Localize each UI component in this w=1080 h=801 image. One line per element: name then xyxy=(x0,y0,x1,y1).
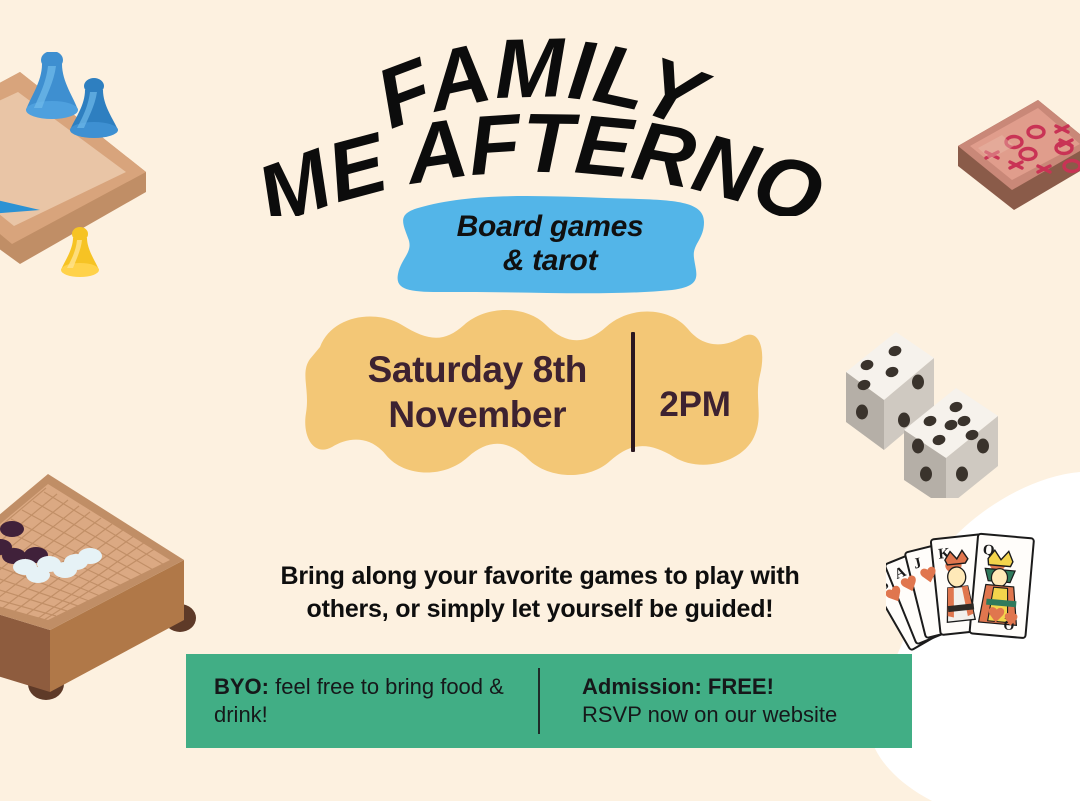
body-copy-line-2: others, or simply let yourself be guided… xyxy=(0,593,1080,626)
title-line-2: GAME AFTERNOON xyxy=(0,16,835,216)
footer-byo-label: BYO: xyxy=(214,674,269,699)
event-time: 2PM xyxy=(635,359,730,425)
date-line-2: November xyxy=(333,392,621,437)
poster-title: FAMILY GAME AFTERNOON xyxy=(0,16,1080,216)
content-layer: FAMILY GAME AFTERNOON Board games & taro… xyxy=(0,0,1080,801)
footer-admission-label: Admission: FREE! xyxy=(582,673,912,701)
poster-canvas: 8 A J K Q xyxy=(0,0,1080,801)
subtitle-badge: Board games & tarot xyxy=(392,192,708,296)
footer-admission: Admission: FREE! RSVP now on our website xyxy=(540,673,912,729)
date-text: Saturday 8th November xyxy=(333,347,631,437)
footer-info-bar: BYO: feel free to bring food & drink! Ad… xyxy=(186,654,912,748)
subtitle-line-2: & tarot xyxy=(503,244,598,278)
subtitle-line-1: Board games xyxy=(457,210,644,244)
title-line-2-text: GAME AFTERNOON xyxy=(0,16,835,216)
body-copy-line-1: Bring along your favorite games to play … xyxy=(0,560,1080,593)
footer-byo: BYO: feel free to bring food & drink! xyxy=(186,673,538,729)
subtitle-text-block: Board games & tarot xyxy=(392,192,708,296)
date-content: Saturday 8th November 2PM xyxy=(298,303,766,481)
date-badge: Saturday 8th November 2PM xyxy=(298,303,766,481)
date-line-1: Saturday 8th xyxy=(333,347,621,392)
footer-rsvp-text: RSVP now on our website xyxy=(582,701,912,729)
body-copy: Bring along your favorite games to play … xyxy=(0,560,1080,627)
title-arc-svg: FAMILY GAME AFTERNOON xyxy=(0,16,1080,216)
